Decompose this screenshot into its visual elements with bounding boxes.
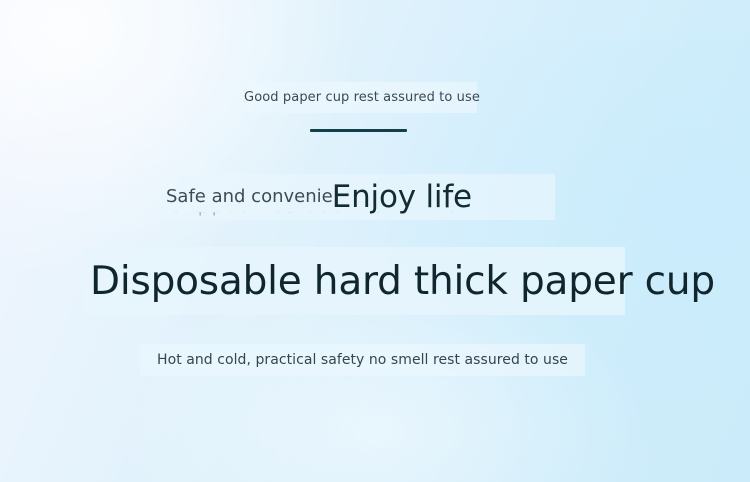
footer-label: Hot and cold, practical safety no smell … <box>157 352 568 368</box>
headline-label: Disposable hard thick paper cup <box>90 262 715 301</box>
promo-banner: Good paper cup rest assured to use Safe … <box>0 0 750 482</box>
divider-rule <box>310 129 407 132</box>
eyebrow-text-plate: Good paper cup rest assured to use <box>247 82 477 113</box>
subtitle-secondary-label: Safe and convenie <box>166 188 333 206</box>
headline-text-plate: Disposable hard thick paper cup <box>84 247 625 315</box>
background-light-wash-top-left <box>0 0 360 280</box>
footer-text-plate: Hot and cold, practical safety no smell … <box>140 344 585 376</box>
eyebrow-label: Good paper cup rest assured to use <box>244 90 480 105</box>
subtitle-primary-label: Enjoy life <box>332 182 472 213</box>
